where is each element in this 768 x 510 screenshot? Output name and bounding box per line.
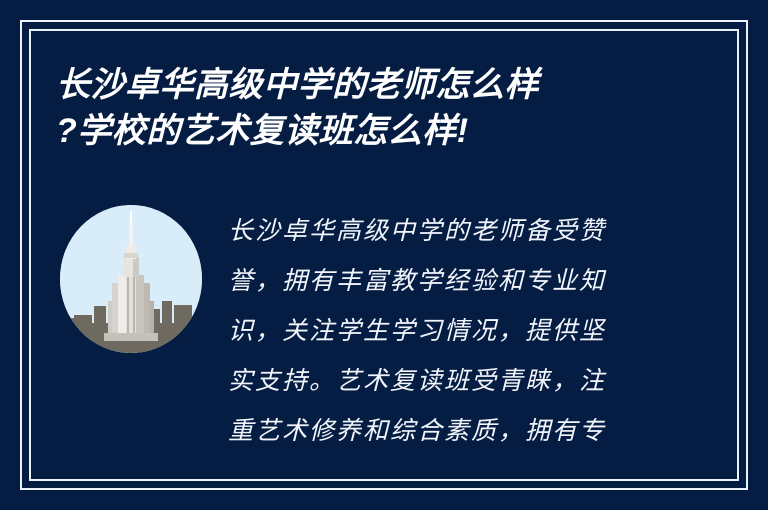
- title-line-2: ?学校的艺术复读班怎么样!: [56, 108, 656, 154]
- poster-canvas: 长沙卓华高级中学的老师怎么样 ?学校的艺术复读班怎么样!: [0, 0, 768, 510]
- body-text: 长沙卓华高级中学的老师备受赞 誉，拥有丰富教学经验和专业知 识，关注学生学习情况…: [228, 206, 660, 456]
- page-title: 长沙卓华高级中学的老师怎么样 ?学校的艺术复读班怎么样!: [56, 62, 656, 154]
- thumbnail-image: [60, 205, 202, 353]
- body-line-5: 重艺术修养和综合素质，拥有专: [228, 406, 660, 456]
- body-line-1: 长沙卓华高级中学的老师备受赞: [228, 206, 660, 256]
- skyscraper-icon: [60, 205, 202, 353]
- body-line-4: 实支持。艺术复读班受青睐，注: [228, 356, 660, 406]
- title-line-1: 长沙卓华高级中学的老师怎么样: [56, 62, 656, 108]
- body-line-3: 识，关注学生学习情况，提供坚: [228, 306, 660, 356]
- body-line-2: 誉，拥有丰富教学经验和专业知: [228, 256, 660, 306]
